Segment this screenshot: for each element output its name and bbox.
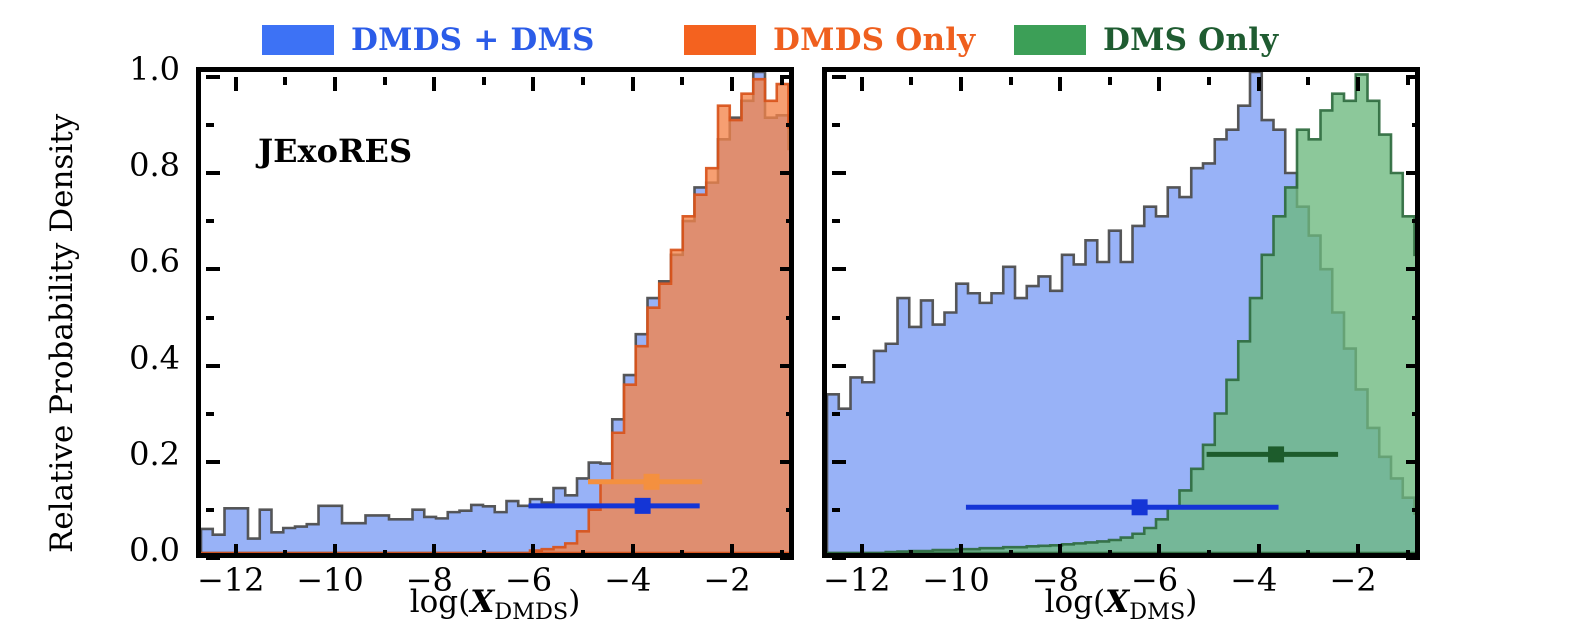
x-title-variable: X [470, 584, 494, 620]
y-tick-label: 0.8 [80, 146, 180, 184]
axis-tick [206, 460, 220, 464]
axis-tick [581, 550, 585, 558]
axis-tick [206, 508, 214, 512]
axis-tick [1412, 316, 1420, 320]
axis-tick [531, 544, 535, 558]
x-title-prefix: log( [1045, 584, 1106, 620]
axis-tick [959, 544, 963, 558]
axis-tick [206, 364, 220, 368]
axis-tick [1306, 77, 1310, 85]
axis-tick [1058, 77, 1062, 91]
figure-legend: DMDS + DMS DMDS Only DMS Only [0, 0, 1578, 62]
axis-tick [832, 123, 840, 127]
axis-tick [909, 550, 913, 558]
axis-tick [206, 556, 220, 560]
axis-tick [432, 544, 436, 558]
axis-tick [786, 412, 794, 416]
axis-tick [786, 508, 794, 512]
histogram-svg-right [827, 72, 1415, 553]
axis-tick [1058, 544, 1062, 558]
figure-root: DMDS + DMS DMDS Only DMS Only Relative P… [0, 0, 1578, 631]
axis-tick [206, 219, 214, 223]
axis-tick [206, 412, 214, 416]
axis-tick [581, 77, 585, 85]
x-title-variable: X [1105, 584, 1129, 620]
y-tick-label: 0.6 [80, 242, 180, 280]
errorbar-marker [1268, 446, 1284, 462]
axis-tick [860, 544, 864, 558]
axis-tick [432, 77, 436, 91]
x-title-prefix: log( [410, 584, 471, 620]
legend-swatch-dms-only [1014, 25, 1086, 55]
axis-tick [780, 460, 794, 464]
axis-tick [283, 77, 287, 85]
y-axis-title: Relative Probability Density [44, 114, 80, 553]
axis-tick [283, 550, 287, 558]
axis-tick [383, 550, 387, 558]
legend-item-dmds-plus-dms: DMDS + DMS [262, 22, 595, 58]
axis-tick [780, 556, 794, 560]
y-tick-label: 0.2 [80, 435, 180, 473]
axis-tick [680, 77, 684, 85]
axis-tick [780, 171, 794, 175]
legend-label-dms-only: DMS Only [1103, 22, 1278, 58]
x-axis-title-right: log(XDMS) [822, 584, 1420, 625]
legend-swatch-dmds-only [684, 25, 756, 55]
axis-tick [832, 267, 846, 271]
axis-tick [832, 316, 840, 320]
legend-label-dmds-only: DMDS Only [773, 22, 975, 58]
axis-tick [1257, 77, 1261, 91]
x-axis-title-left: log(XDMDS) [196, 584, 794, 625]
panel-annotation-jexores: JExoRES [258, 132, 412, 170]
axis-tick [786, 316, 794, 320]
x-title-suffix: ) [1185, 584, 1197, 620]
axis-tick [730, 544, 734, 558]
legend-label-dmds-plus-dms: DMDS + DMS [351, 22, 595, 58]
axis-tick [832, 508, 840, 512]
axis-tick [1009, 550, 1013, 558]
y-tick-label: 0.0 [80, 531, 180, 569]
axis-tick [1406, 556, 1420, 560]
axis-tick [1406, 267, 1420, 271]
legend-swatch-dmds-plus-dms [262, 25, 334, 55]
x-title-suffix: ) [568, 584, 580, 620]
axis-tick [383, 77, 387, 85]
axis-tick [482, 550, 486, 558]
axis-tick [1406, 460, 1420, 464]
axis-tick [1356, 544, 1360, 558]
axis-tick [206, 123, 214, 127]
axis-tick [206, 267, 220, 271]
axis-tick [631, 77, 635, 91]
axis-tick [206, 171, 220, 175]
axis-tick [780, 364, 794, 368]
errorbar-marker [644, 474, 660, 490]
axis-tick [780, 75, 794, 79]
y-tick-label: 1.0 [80, 50, 180, 88]
axis-tick [1356, 77, 1360, 91]
axis-tick [832, 219, 840, 223]
axis-tick [1157, 77, 1161, 91]
axis-tick [482, 77, 486, 85]
axis-tick [1406, 171, 1420, 175]
axis-tick [1207, 550, 1211, 558]
axis-tick [206, 316, 214, 320]
axis-tick [1412, 412, 1420, 416]
axis-tick [1412, 219, 1420, 223]
axis-tick [1207, 77, 1211, 85]
axis-tick [959, 77, 963, 91]
axis-tick [832, 171, 846, 175]
axis-tick [1108, 550, 1112, 558]
axis-tick [234, 77, 238, 91]
axis-tick [206, 75, 220, 79]
plot-area-right [827, 72, 1415, 553]
legend-item-dmds-only: DMDS Only [684, 22, 975, 58]
axis-tick [860, 77, 864, 91]
axis-tick [832, 75, 846, 79]
y-tick-label: 0.4 [80, 339, 180, 377]
axis-tick [1009, 77, 1013, 85]
axis-tick [909, 77, 913, 85]
axis-tick [780, 267, 794, 271]
axis-tick [1406, 364, 1420, 368]
panel-right-dms [822, 67, 1420, 558]
axis-tick [631, 544, 635, 558]
axis-tick [832, 556, 846, 560]
errorbar-marker [635, 498, 651, 514]
axis-tick [1157, 544, 1161, 558]
axis-tick [1406, 75, 1420, 79]
axis-tick [832, 460, 846, 464]
axis-tick [832, 364, 846, 368]
axis-tick [786, 123, 794, 127]
axis-tick [1412, 508, 1420, 512]
x-title-subscript: DMS [1129, 599, 1185, 625]
axis-tick [1108, 77, 1112, 85]
axis-tick [680, 550, 684, 558]
x-title-subscript: DMDS [494, 599, 568, 625]
axis-tick [333, 544, 337, 558]
axis-tick [786, 219, 794, 223]
axis-tick [333, 77, 337, 91]
axis-tick [1412, 123, 1420, 127]
axis-tick [531, 77, 535, 91]
axis-tick [1306, 550, 1310, 558]
axis-tick [730, 77, 734, 91]
axis-tick [832, 412, 840, 416]
axis-tick [1257, 544, 1261, 558]
legend-item-dms-only: DMS Only [1014, 22, 1278, 58]
axis-tick [234, 544, 238, 558]
errorbar-marker [1132, 499, 1148, 515]
